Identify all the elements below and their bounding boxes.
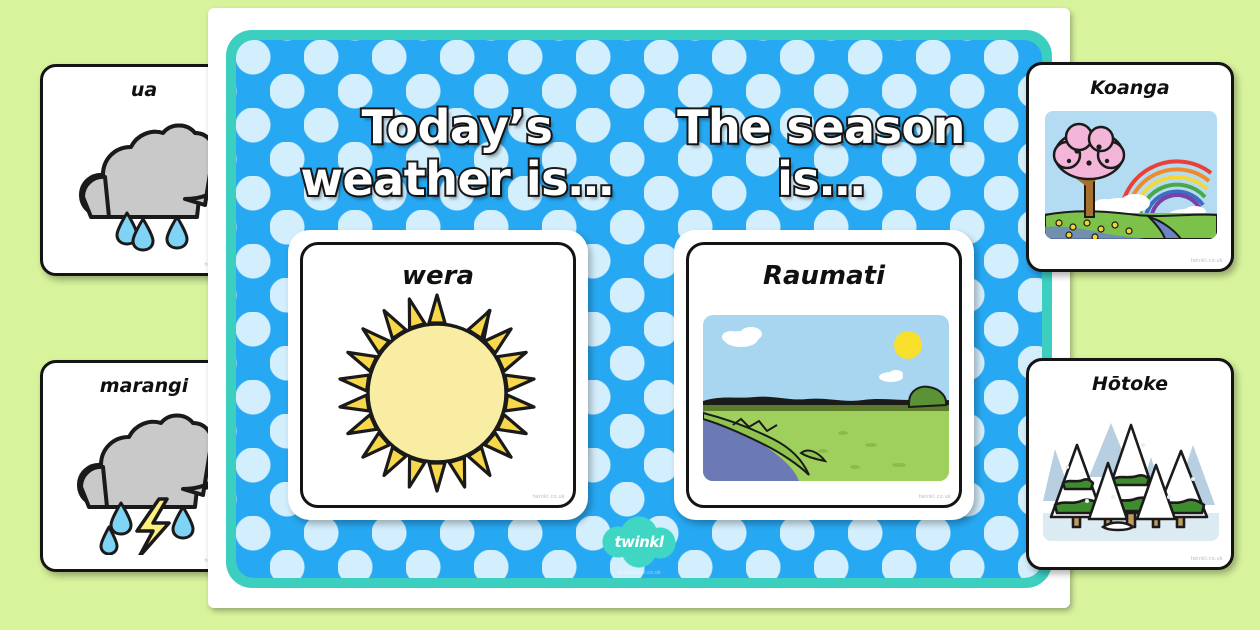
card-label: Raumati [689,261,959,291]
rain-cloud-icon [65,113,229,253]
spring-landscape-icon [1045,111,1217,239]
season-card-hotoke[interactable]: Hōtoke [1026,358,1234,570]
thunderstorm-cloud-icon [63,407,231,555]
credit-mark: twinkl.co.uk [919,494,951,500]
card-label: Hōtoke [1029,373,1231,395]
credit-mark: twinkl.co.uk [1191,258,1223,264]
selected-season-card: Raumati [686,242,962,508]
card-label: wera [303,261,573,291]
heading-todays-weather: Today’s weather is… [292,102,622,205]
brand-name: twinkl [615,533,664,551]
selected-season-slot[interactable]: Raumati [674,230,974,520]
heading-the-season: The season is… [656,102,986,205]
polka-dot-background: Today’s weather is… The season is… wera [236,40,1042,578]
credit-mark: twinkl.co.uk [533,494,565,500]
brand-url: www.twinkl.co.uk [617,570,660,576]
card-label: Koanga [1029,77,1231,99]
season-card-koanga[interactable]: Koanga [1026,62,1234,272]
summer-landscape-icon [703,315,949,481]
credit-mark: twinkl.co.uk [1191,556,1223,562]
winter-landscape-icon [1043,405,1219,541]
selected-weather-card: wera [300,242,576,508]
poster-frame: Today’s weather is… The season is… wera [226,30,1052,588]
display-board: ua twinkl.co.uk marangi [0,0,1260,630]
twinkl-logo: twinkl [596,516,682,568]
selected-weather-slot[interactable]: wera [288,230,588,520]
poster-paper: Today’s weather is… The season is… wera [208,8,1070,608]
sun-icon [337,293,537,493]
